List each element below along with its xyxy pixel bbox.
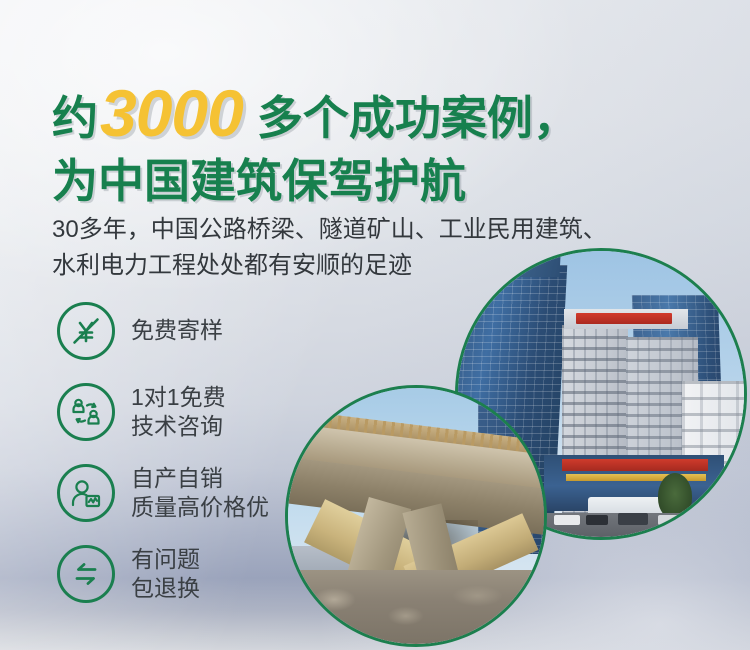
headline-line-2: 为中国建筑保驾护航 [52, 158, 712, 204]
feature-item-free-sample[interactable]: 免费寄样 [57, 300, 307, 362]
feature-label-line-2: 包退换 [131, 574, 200, 603]
parked-car [688, 515, 708, 525]
feature-text: 1对1免费 技术咨询 [131, 383, 226, 442]
red-sign-bottom [562, 459, 708, 471]
one-to-one-consultation-icon [57, 383, 115, 441]
feature-text: 免费寄样 [131, 316, 223, 345]
feature-list: 免费寄样 1对1免费 技术咨询 [57, 300, 307, 624]
feature-label-line-1: 有问题 [131, 546, 200, 572]
feature-label-line-1: 免费寄样 [131, 317, 223, 343]
feature-text: 有问题 包退换 [131, 545, 200, 604]
free-sample-no-yen-icon [57, 302, 115, 360]
feature-item-consultation[interactable]: 1对1免费 技术咨询 [57, 381, 307, 443]
subtitle-line-1: 30多年，中国公路桥梁、隧道矿山、工业民用建筑、 [52, 212, 732, 248]
headline-line-1: 约 3000 多个成功案例， [52, 78, 712, 144]
feature-item-quality[interactable]: 自产自销 质量高价格优 [57, 462, 307, 524]
headline-suffix: 多个成功案例， [247, 95, 579, 141]
headline-prefix: 约 [52, 95, 98, 141]
feature-text: 自产自销 质量高价格优 [131, 464, 269, 523]
feature-label-line-1: 自产自销 [131, 465, 223, 491]
headline-number: 3000 [98, 80, 247, 146]
person-chart-quality-icon [57, 464, 115, 522]
bridge-ground-rubble [288, 570, 544, 644]
bridge-photo-inner [288, 388, 544, 644]
feature-item-return[interactable]: 有问题 包退换 [57, 543, 307, 605]
parked-car [658, 515, 680, 525]
parked-car [618, 513, 648, 525]
blue-tower-left-cap [481, 255, 560, 277]
headline-block: 约 3000 多个成功案例， 为中国建筑保驾护航 [52, 78, 712, 204]
promo-banner: 约 3000 多个成功案例， 为中国建筑保驾护航 30多年，中国公路桥梁、隧道矿… [0, 0, 750, 650]
feature-label-line-2: 技术咨询 [131, 412, 226, 441]
red-sign-top [576, 313, 672, 324]
parked-car [554, 515, 580, 525]
exchange-return-icon [57, 545, 115, 603]
feature-label-line-2: 质量高价格优 [131, 493, 269, 522]
bridge-photo [285, 385, 547, 647]
feature-label-line-1: 1对1免费 [131, 384, 226, 410]
parked-car [586, 515, 608, 525]
